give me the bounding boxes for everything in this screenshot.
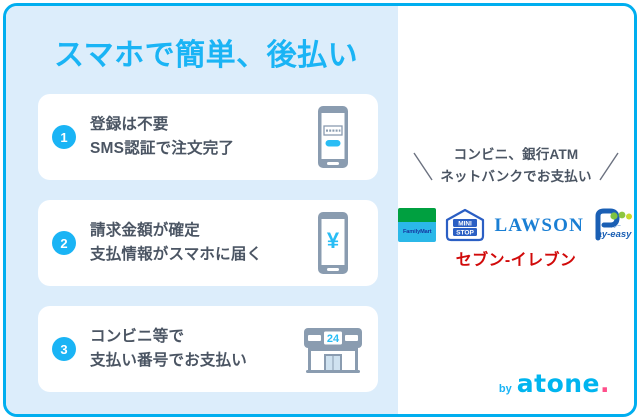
payment-logo-row: FamilyMart MINI STOP LAWSON	[398, 206, 634, 244]
right-slash-decoration	[594, 149, 620, 183]
payment-heading: コンビニ、銀行ATM ネットバンクでお支払い	[438, 144, 593, 189]
step-card-1: 1 登録は不要 SMS認証で注文完了	[38, 94, 378, 180]
steps-panel: スマホで簡単、後払い 1 登録は不要 SMS認証で注文完了	[6, 6, 398, 414]
step-line-3a: コンビニ等で	[90, 325, 296, 349]
smartphone-sms-icon	[296, 102, 370, 172]
store-sign-label: 24	[327, 333, 340, 345]
step-text-2: 請求金額が確定 支払情報がスマホに届く	[90, 219, 296, 267]
brand-by-atone: by atone.	[499, 371, 610, 396]
payment-heading-group: コンビニ、銀行ATM ネットバンクでお支払い	[398, 144, 634, 189]
step-line-1b: SMS認証で注文完了	[90, 137, 296, 161]
step-number-badge-2: 2	[52, 231, 76, 255]
page-title: スマホで簡単、後払い	[54, 30, 358, 74]
left-slash-decoration	[412, 149, 438, 183]
payeasy-label-small: ペイジー	[605, 223, 621, 229]
step-text-1: 登録は不要 SMS認証で注文完了	[90, 113, 296, 161]
step-number-badge-1: 1	[52, 125, 76, 149]
familymart-label: FamilyMart	[398, 222, 436, 242]
familymart-green-band	[398, 208, 436, 222]
smartphone-yen-icon: ¥	[296, 208, 370, 278]
convenience-store-icon: 24	[296, 314, 370, 384]
step-card-3: 3 コンビニ等で 支払い番号でお支払い 24	[38, 306, 378, 392]
lawson-logo: LAWSON	[494, 216, 584, 235]
step-line-3b: 支払い番号でお支払い	[90, 349, 296, 373]
step-card-2: 2 請求金額が確定 支払情報がスマホに届く ¥	[38, 200, 378, 286]
seven-eleven-logo: セブン‐イレブン	[398, 246, 634, 270]
ministop-logo: MINI STOP	[444, 208, 486, 242]
ministop-label-top: MINI	[459, 221, 473, 228]
payeasy-logo: ペイジー ay-easy	[592, 208, 634, 242]
payment-methods-panel: コンビニ、銀行ATM ネットバンクでお支払い FamilyMart MINI	[398, 6, 634, 414]
payment-heading-line-1: コンビニ、銀行ATM	[440, 144, 591, 166]
atone-wordmark: atone.	[517, 371, 610, 396]
step-line-2b: 支払情報がスマホに届く	[90, 243, 296, 267]
atone-wordmark-dot: .	[600, 369, 610, 398]
step-line-1a: 登録は不要	[90, 113, 296, 137]
ministop-label-bottom: STOP	[457, 230, 475, 237]
step-line-2a: 請求金額が確定	[90, 219, 296, 243]
payeasy-label: ay-easy	[597, 229, 633, 240]
promo-card-frame: スマホで簡単、後払い 1 登録は不要 SMS認証で注文完了	[3, 3, 637, 417]
by-label: by	[499, 383, 512, 395]
step-text-3: コンビニ等で 支払い番号でお支払い	[90, 325, 296, 373]
atone-wordmark-text: atone	[517, 369, 600, 398]
payment-heading-line-2: ネットバンクでお支払い	[440, 166, 591, 188]
svg-text:¥: ¥	[327, 228, 340, 253]
step-number-badge-3: 3	[52, 337, 76, 361]
familymart-logo: FamilyMart	[398, 208, 436, 242]
